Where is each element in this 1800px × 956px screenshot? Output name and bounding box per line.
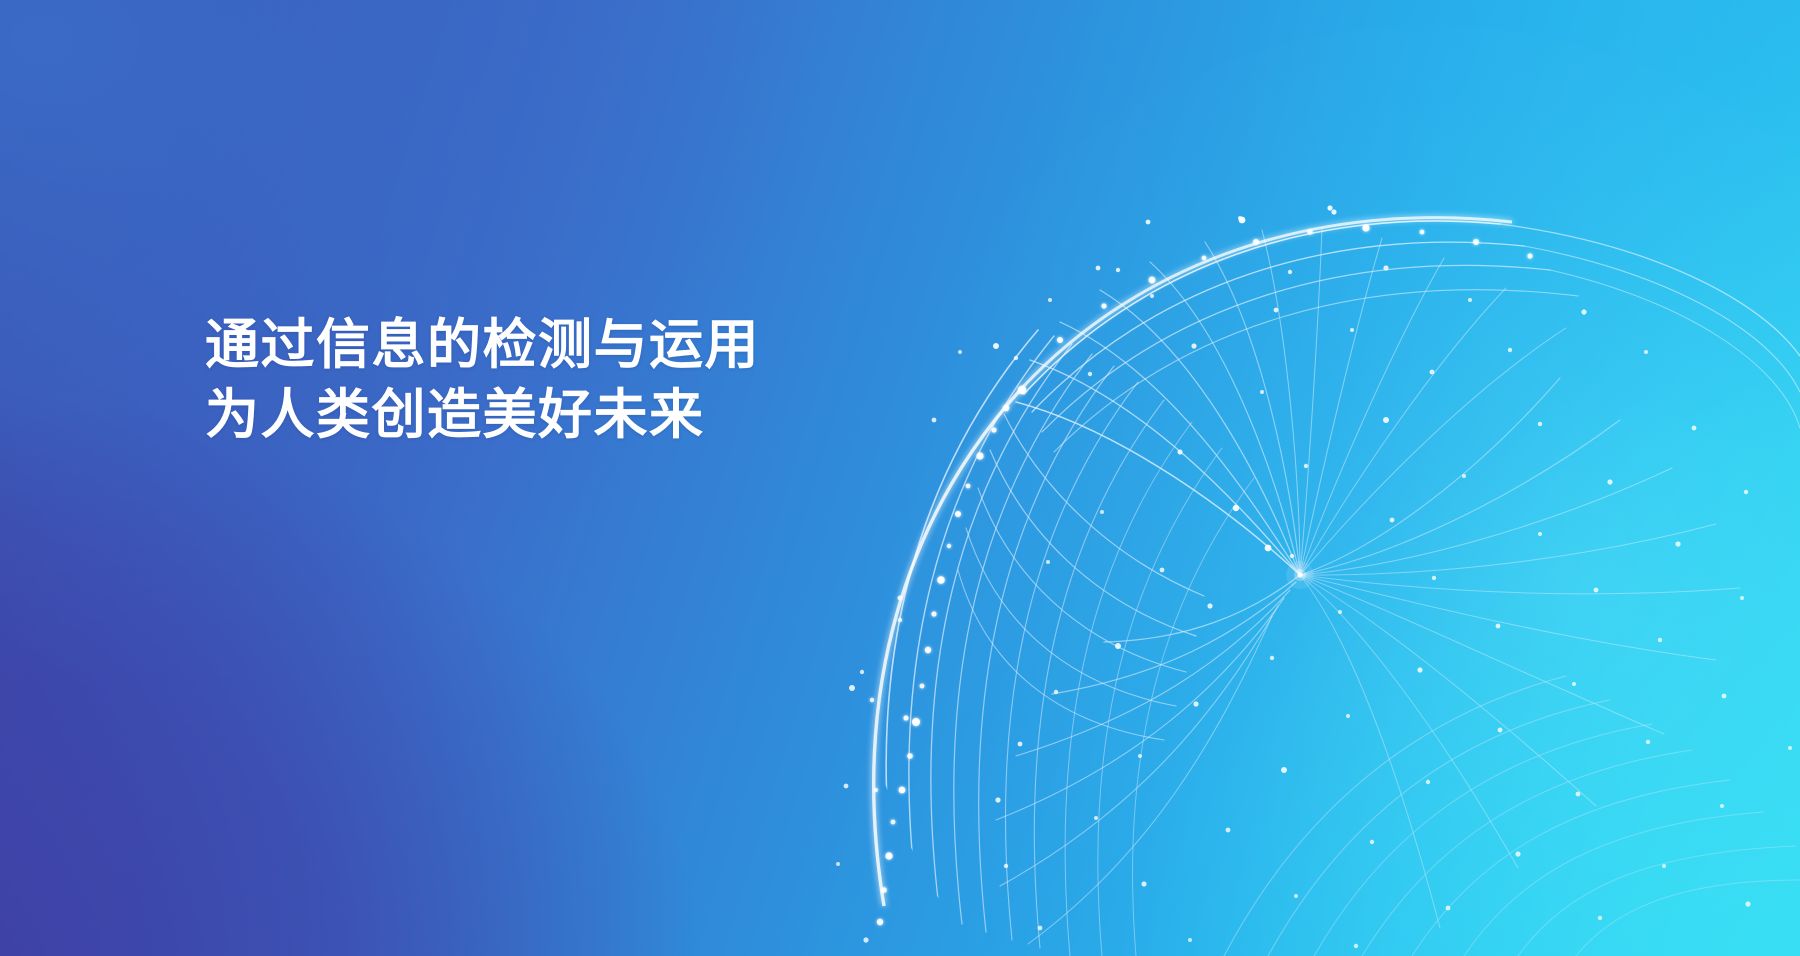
headline-line-2: 为人类创造美好未来 <box>205 380 1025 450</box>
hero-banner: 通过信息的检测与运用 为人类创造美好未来 <box>0 0 1800 956</box>
headline-block: 通过信息的检测与运用 为人类创造美好未来 <box>205 310 1025 450</box>
headline-line-1: 通过信息的检测与运用 <box>205 310 1025 380</box>
background-glow-bottom-right <box>0 0 1800 956</box>
